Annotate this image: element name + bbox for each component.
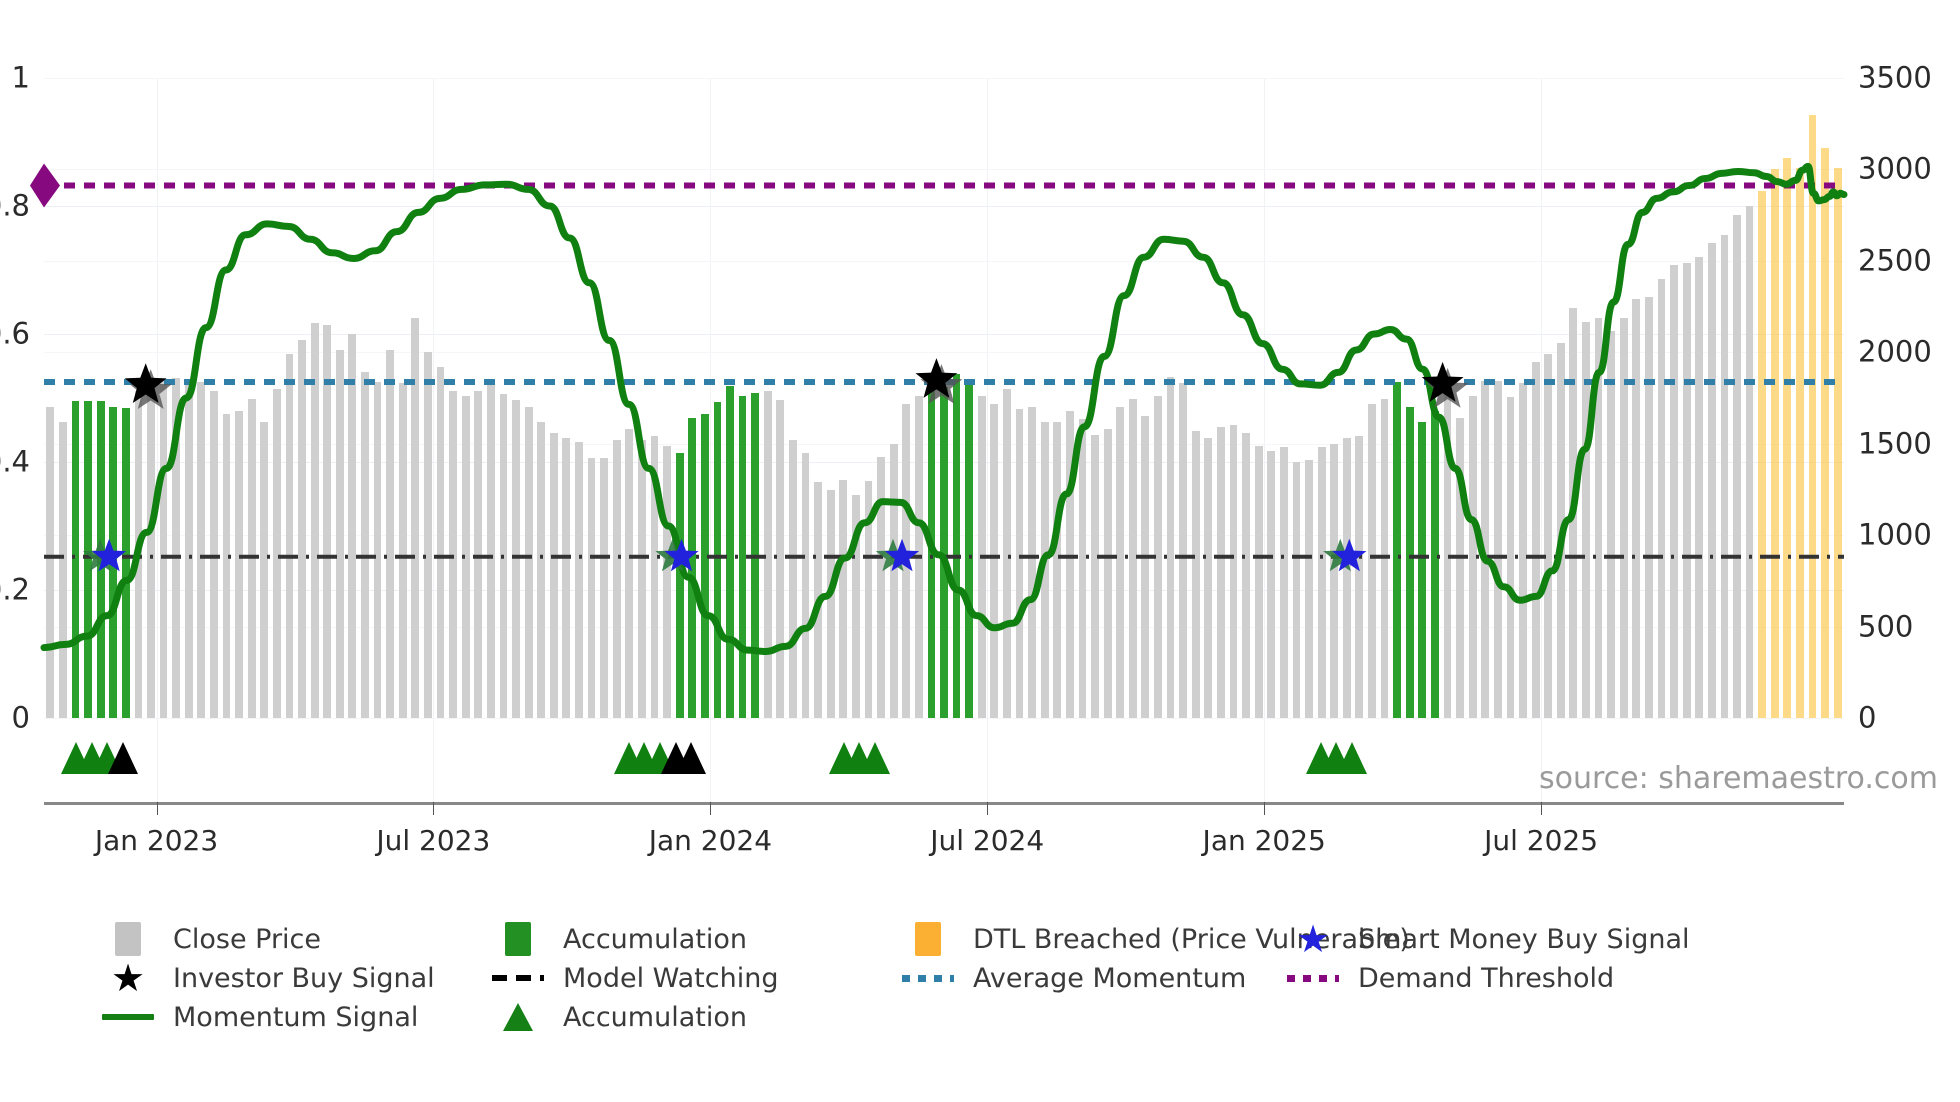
legend-row: Close PriceAccumulationDTL Breached (Pri… xyxy=(100,920,1940,958)
signal-markers-svg xyxy=(44,78,1844,718)
legend-label: Investor Buy Signal xyxy=(173,963,435,994)
x-tick-label: Jul 2023 xyxy=(376,824,490,857)
y-tick-right: 3000 xyxy=(1858,155,1932,184)
close-price-swatch xyxy=(115,922,141,956)
legend-row: Momentum SignalAccumulation xyxy=(100,998,1940,1036)
legend-item-model-watching[interactable]: Model Watching xyxy=(490,959,778,997)
x-tick xyxy=(157,802,158,815)
legend-item-close-price[interactable]: Close Price xyxy=(100,920,321,958)
y-tick-left: 0.8 xyxy=(0,192,30,221)
x-tick xyxy=(710,802,711,815)
chart-canvas: 00.20.40.60.81 0500100015002000250030003… xyxy=(0,0,1960,1102)
y-tick-right: 2000 xyxy=(1858,338,1932,367)
x-tick-label: Jul 2024 xyxy=(930,824,1044,857)
y-tick-right: 2500 xyxy=(1858,246,1932,275)
legend-label: Close Price xyxy=(173,924,321,955)
legend-item-accumulation-triangle[interactable]: Accumulation xyxy=(490,998,747,1036)
y-tick-left: 0.2 xyxy=(0,576,30,605)
plot-area xyxy=(44,78,1844,718)
x-tick xyxy=(987,802,988,815)
y-tick-left: 0.6 xyxy=(0,320,30,349)
average-momentum-dotted-swatch xyxy=(902,975,954,982)
legend-item-accumulation-bar[interactable]: Accumulation xyxy=(490,920,747,958)
legend-label: Momentum Signal xyxy=(173,1002,418,1033)
y-tick-right: 1000 xyxy=(1858,521,1932,550)
dtl-breached-swatch xyxy=(915,922,941,956)
accumulation-triangle-triangle-icon xyxy=(503,1003,533,1031)
legend-label: Model Watching xyxy=(563,963,778,994)
x-tick xyxy=(1541,802,1542,815)
legend-item-demand-threshold[interactable]: Demand Threshold xyxy=(1285,959,1614,997)
demand-threshold-dotted-swatch xyxy=(1287,975,1339,982)
accumulation-triangle-marker xyxy=(860,742,890,774)
accumulation-triangle-marker xyxy=(676,742,706,774)
y-tick-left: 0.4 xyxy=(0,448,30,477)
x-tick-label: Jan 2025 xyxy=(1203,824,1326,857)
y-tick-right: 3500 xyxy=(1858,64,1932,93)
x-tick-label: Jul 2025 xyxy=(1484,824,1598,857)
x-tick xyxy=(433,802,434,815)
legend-label: Smart Money Buy Signal xyxy=(1358,924,1690,955)
legend-label: Average Momentum xyxy=(973,963,1246,994)
legend-item-smart-money-buy-signal[interactable]: ★Smart Money Buy Signal xyxy=(1285,920,1690,958)
y-tick-left: 1 xyxy=(12,64,30,93)
investor-buy-signal-star-icon: ★ xyxy=(111,959,145,997)
legend-item-momentum-signal[interactable]: Momentum Signal xyxy=(100,998,418,1036)
momentum-signal-line-swatch xyxy=(102,1014,154,1020)
source-watermark: source: sharemaestro.com xyxy=(1539,761,1938,796)
y-tick-right: 500 xyxy=(1858,612,1913,641)
legend-label: Demand Threshold xyxy=(1358,963,1614,994)
gridline-minor xyxy=(44,718,1844,719)
y-tick-right: 0 xyxy=(1858,704,1876,733)
legend-label: Accumulation xyxy=(563,1002,747,1033)
accumulation-triangle-marker xyxy=(1337,742,1367,774)
chart-legend: Close PriceAccumulationDTL Breached (Pri… xyxy=(100,920,1940,1037)
legend-item-average-momentum[interactable]: Average Momentum xyxy=(900,959,1246,997)
x-axis-line xyxy=(44,802,1844,805)
x-tick-label: Jan 2024 xyxy=(649,824,772,857)
accumulation-bar-swatch xyxy=(505,922,531,956)
y-tick-left: 0 xyxy=(12,704,30,733)
smart-money-buy-signal-star-icon: ★ xyxy=(1296,920,1330,958)
model-watching-dash-swatch xyxy=(492,975,544,981)
legend-item-investor-buy-signal[interactable]: ★Investor Buy Signal xyxy=(100,959,435,997)
y-tick-right: 1500 xyxy=(1858,429,1932,458)
x-tick xyxy=(1264,802,1265,815)
legend-row: ★Investor Buy SignalModel WatchingAverag… xyxy=(100,959,1940,997)
legend-label: Accumulation xyxy=(563,924,747,955)
x-tick-label: Jan 2023 xyxy=(95,824,218,857)
accumulation-triangle-marker xyxy=(108,742,138,774)
